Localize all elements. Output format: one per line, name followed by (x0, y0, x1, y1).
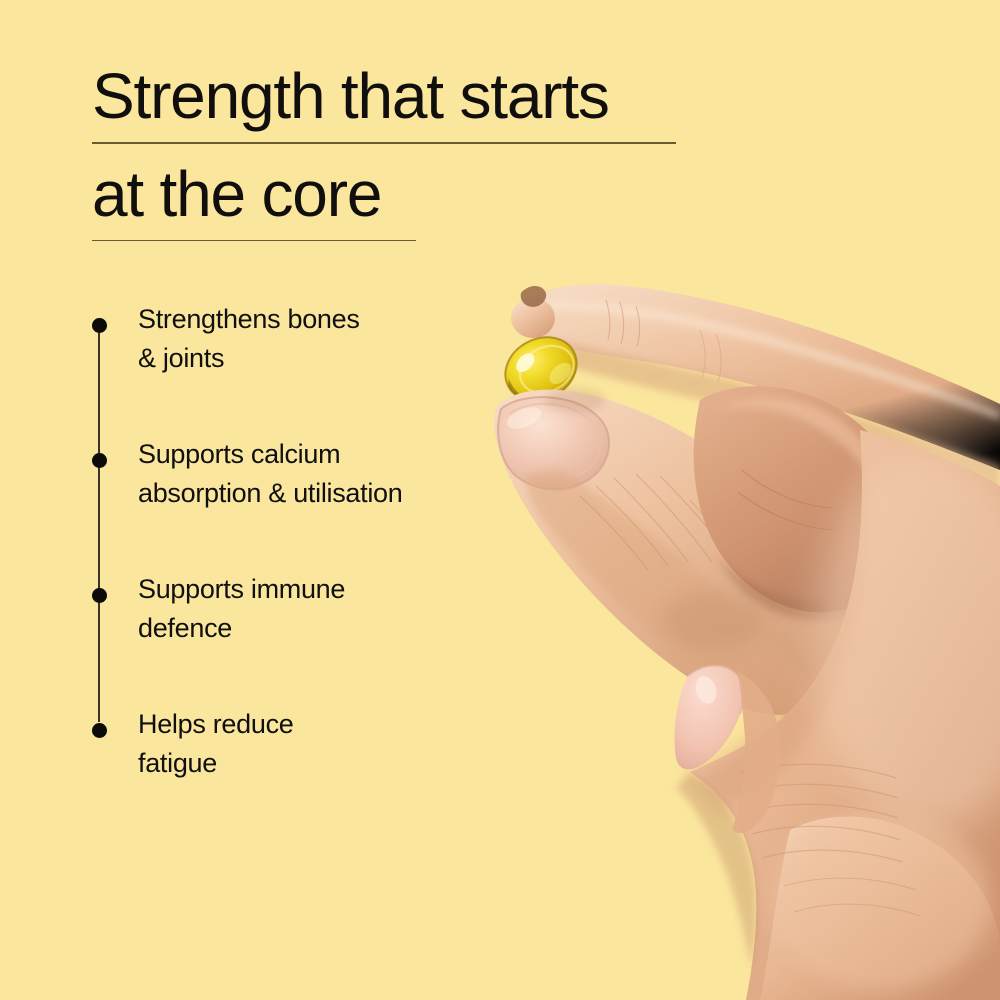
headline: Strength that starts at the core (92, 58, 712, 253)
list-item: Supports immune defence (92, 570, 512, 705)
thumb (494, 390, 852, 720)
promo-card: Strength that starts at the core Strengt… (0, 0, 1000, 1000)
benefit-list: Strengthens bones & joints Supports calc… (92, 300, 512, 783)
benefit-label: Supports immune defence (138, 570, 512, 648)
headline-rule-2 (92, 240, 416, 242)
list-item: Supports calcium absorption & utilisatio… (92, 435, 512, 570)
benefit-label: Supports calcium absorption & utilisatio… (138, 435, 512, 513)
index-finger (511, 284, 1000, 492)
bullet-dot-icon (92, 318, 107, 333)
headline-line-1: Strength that starts (92, 58, 712, 134)
list-item: Strengthens bones & joints (92, 300, 512, 435)
headline-line-2: at the core (92, 156, 712, 232)
photo-shadows (545, 388, 762, 650)
bullet-dot-icon (92, 723, 107, 738)
bullet-dot-icon (92, 453, 107, 468)
list-item: Helps reduce fatigue (92, 705, 512, 783)
benefit-label: Helps reduce fatigue (138, 705, 512, 783)
finger-nail-lower (675, 666, 781, 834)
headline-rule-1 (92, 142, 676, 144)
benefit-label: Strengthens bones & joints (138, 300, 512, 378)
palm-and-fingers (676, 430, 1000, 1000)
bullet-dot-icon (92, 588, 107, 603)
curled-middle-finger (694, 386, 907, 620)
